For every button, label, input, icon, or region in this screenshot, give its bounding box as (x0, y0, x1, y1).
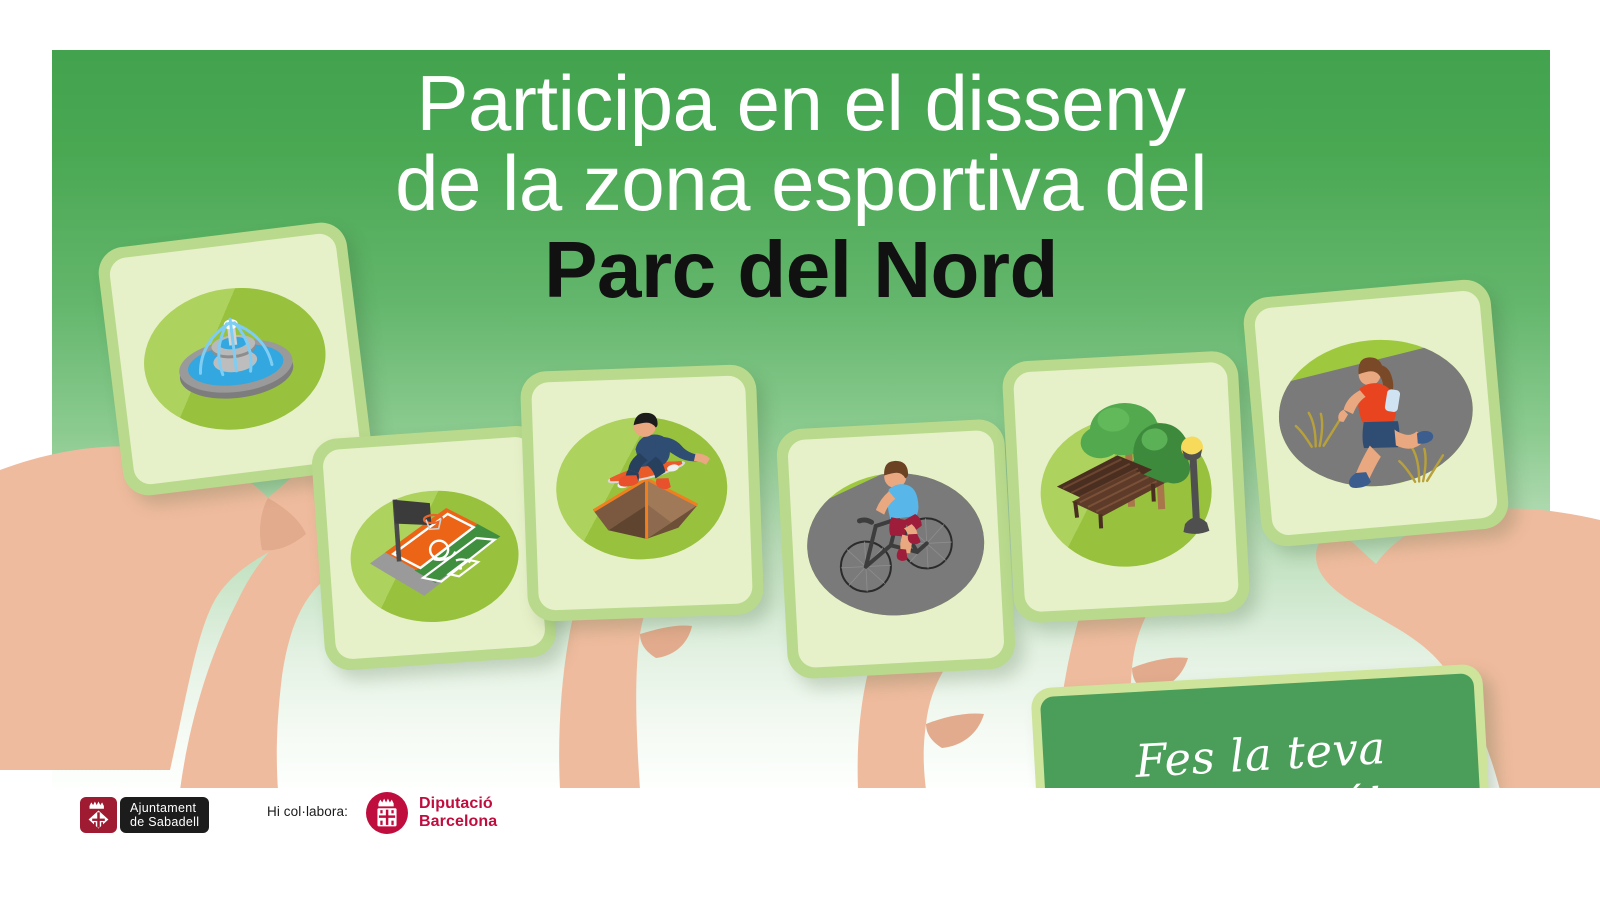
poster-canvas: Participa en el disseny de la zona espor… (0, 0, 1600, 900)
sports-court-icon (322, 436, 546, 660)
sabadell-crest-icon (80, 797, 117, 833)
card-bench-trees-inner (1013, 362, 1239, 613)
card-cycling-path[interactable] (776, 418, 1017, 680)
card-sports-court-inner (322, 436, 546, 660)
hand-shadow-3 (926, 713, 984, 748)
diputacio-crest-icon (366, 792, 408, 834)
collaborate-label: Hi col·labora: (267, 804, 348, 819)
skateboarder-icon (531, 375, 753, 610)
sabadell-line-2: de Sabadell (130, 815, 199, 829)
footer-logos: Ajuntament de Sabadell Hi col·labora: (0, 788, 1600, 900)
card-skate-ramp-inner (531, 375, 753, 610)
sabadell-line-1: Ajuntament (130, 801, 199, 815)
runner-figure (1333, 352, 1437, 489)
sabadell-name-plate: Ajuntament de Sabadell (120, 797, 209, 833)
diputacio-name: Diputació Barcelona (419, 795, 497, 831)
park-bench-icon (1013, 362, 1239, 613)
diputacio-line-1: Diputació (419, 795, 497, 813)
card-bench-trees[interactable] (1001, 350, 1250, 624)
card-running-path-inner (1253, 290, 1498, 537)
grass-tuft-left (1295, 410, 1342, 448)
card-skate-ramp[interactable] (520, 364, 765, 622)
runner-icon (1253, 290, 1498, 537)
grass-tuft-right (1398, 445, 1445, 483)
card-cycling-path-inner (787, 430, 1005, 668)
diputacio-line-2: Barcelona (419, 813, 497, 831)
card-sports-court[interactable] (310, 424, 558, 672)
logo-ajuntament-sabadell[interactable]: Ajuntament de Sabadell (80, 797, 209, 833)
logo-diputacio-barcelona[interactable]: Diputació Barcelona (366, 792, 497, 834)
hand-shadow-2 (640, 625, 692, 658)
cyclist-icon (787, 430, 1005, 668)
card-running-path[interactable] (1242, 278, 1511, 549)
